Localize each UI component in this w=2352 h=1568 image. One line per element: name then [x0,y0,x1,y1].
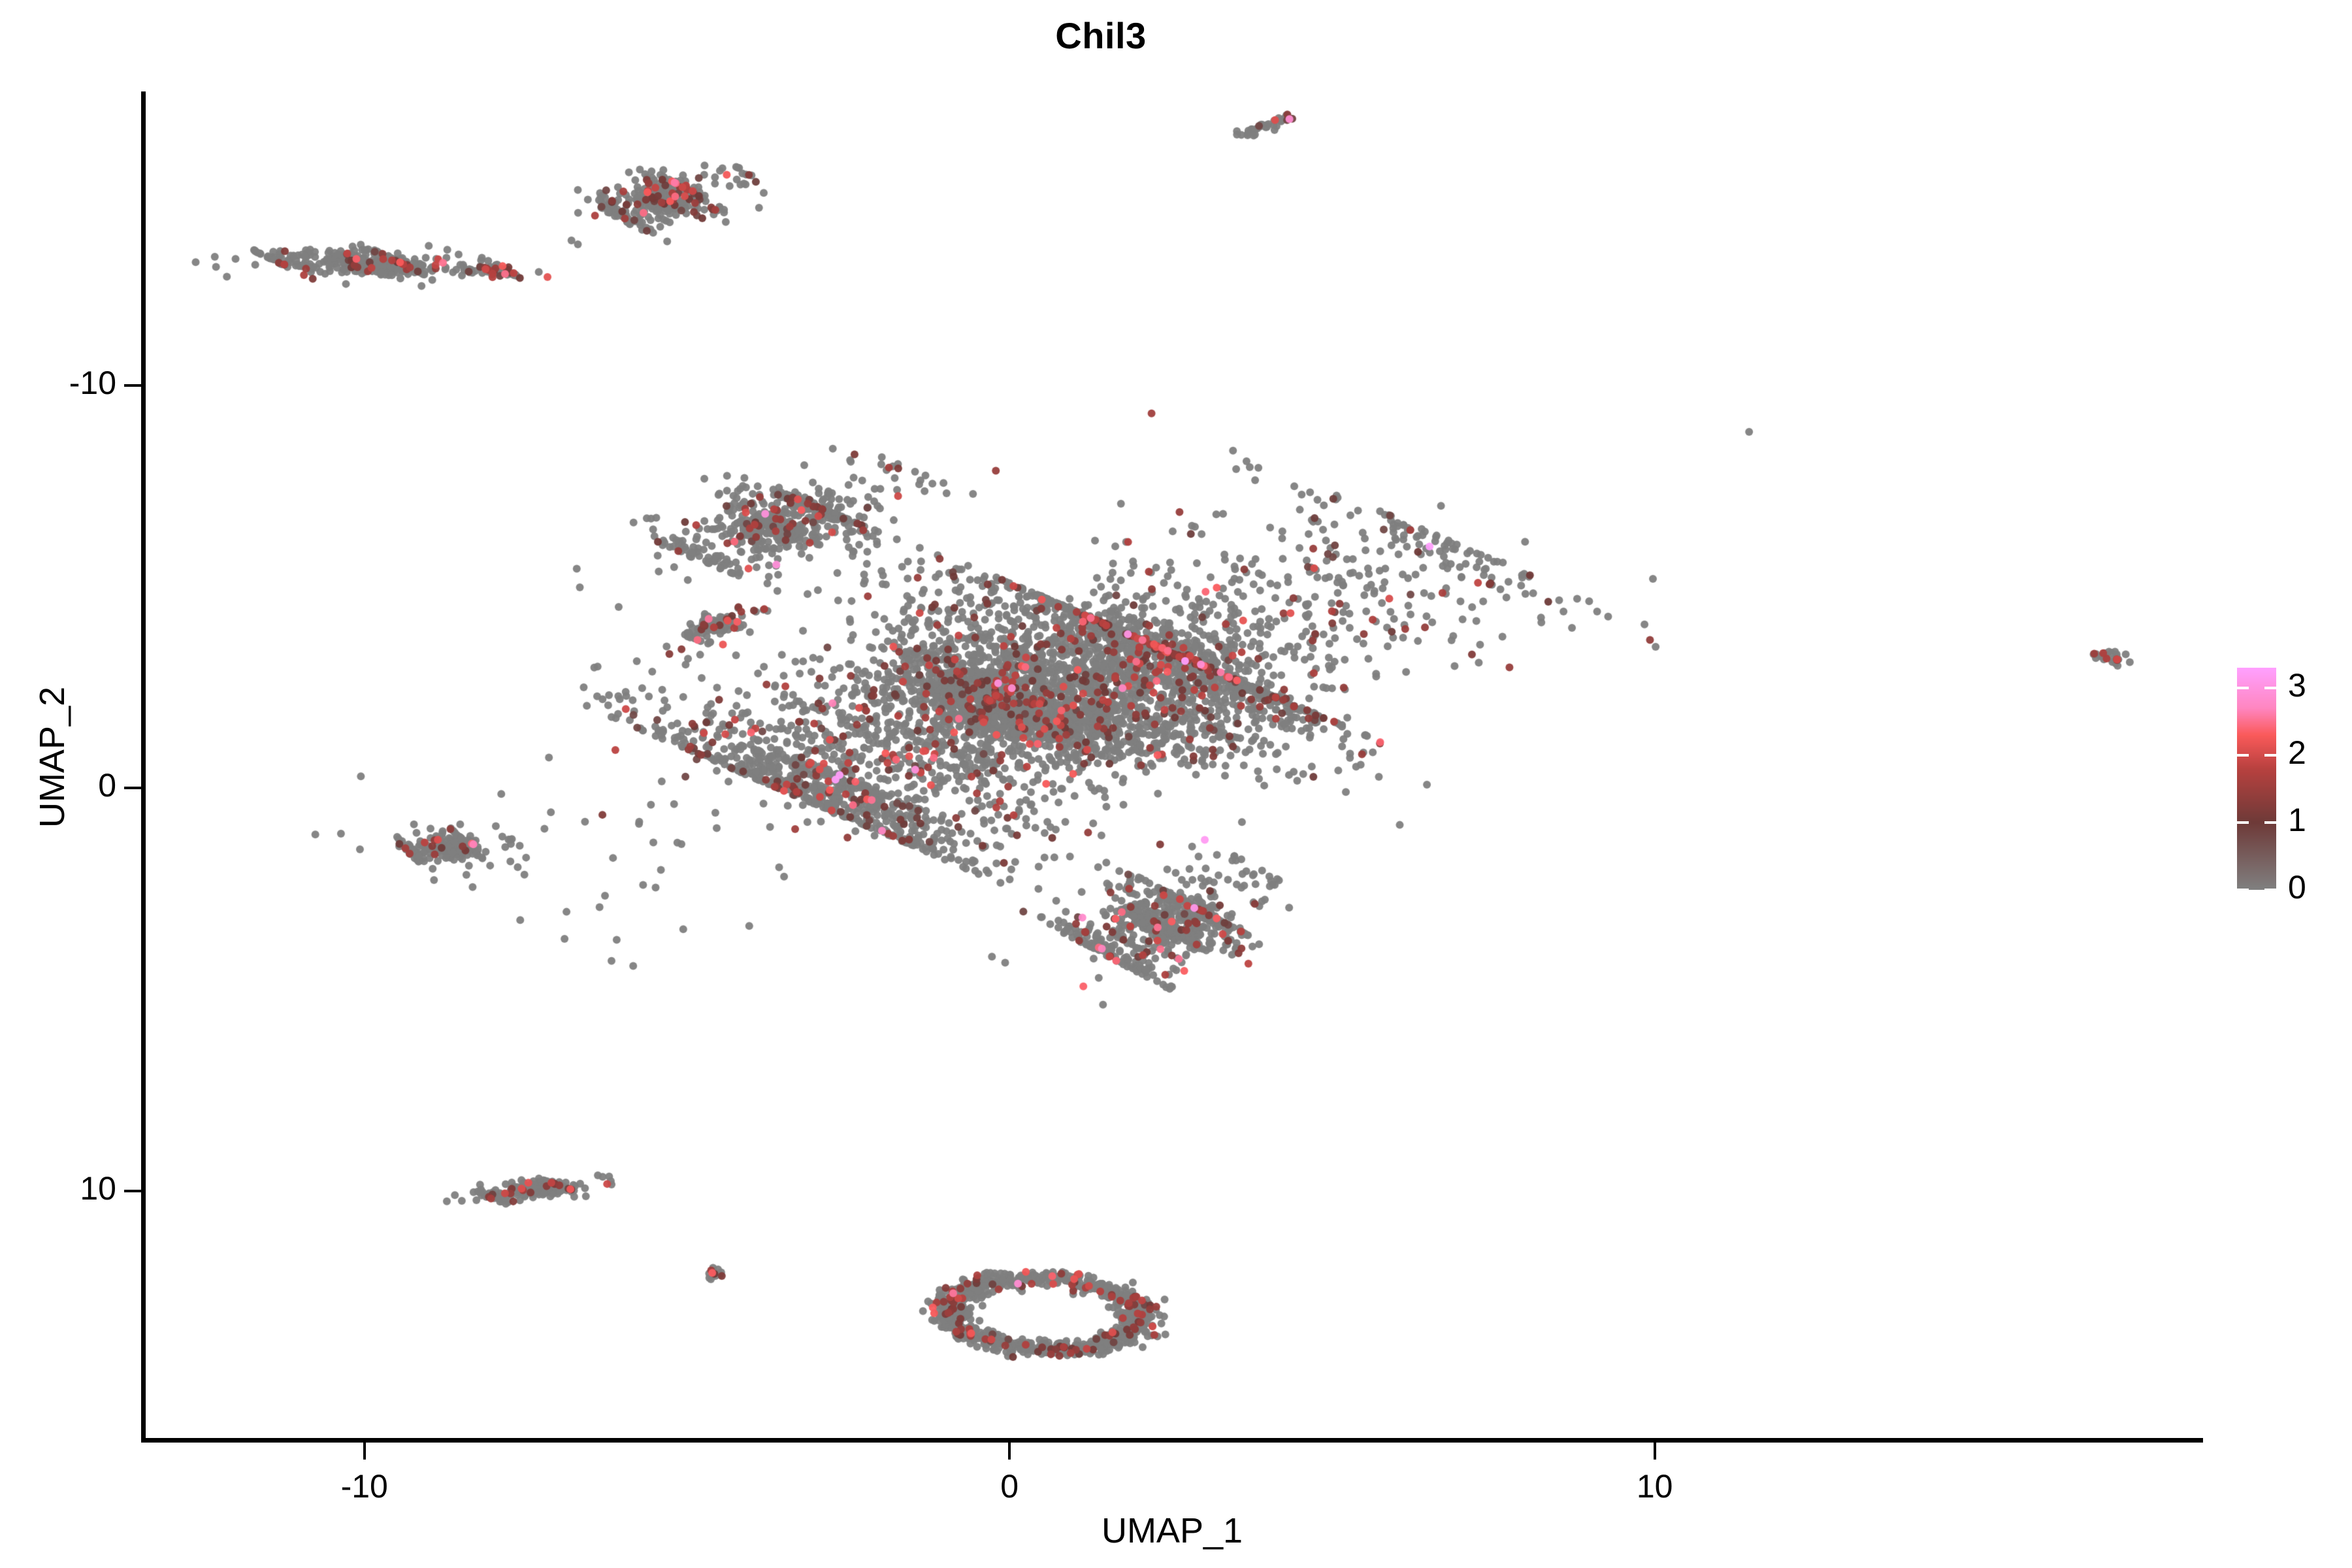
y-tick-mark [124,384,141,387]
umap-feature-plot: Chil3 -10010 100-10 UMAP_1 UMAP_2 3210 [0,0,2352,1568]
plot-panel [145,91,2203,1441]
y-tick-mark [124,787,141,789]
y-axis-line [141,91,146,1443]
colorbar-gradient [2237,668,2276,890]
page-title: Chil3 [0,14,2202,57]
x-tick-mark [1654,1443,1656,1460]
x-tick-mark [363,1443,366,1460]
colorbar-tick-label: 1 [2288,801,2306,839]
colorbar-tick-label: 3 [2288,666,2306,704]
colorbar-tick-mark [2237,687,2276,689]
colorbar-tick-label: 0 [2288,868,2306,906]
colorbar-tick-mark [2237,821,2276,824]
x-tick-mark [1008,1443,1011,1460]
colorbar-legend: 3210 [2237,668,2328,890]
colorbar-tick-label: 2 [2288,734,2306,772]
x-axis-label: UMAP_1 [141,1511,2203,1551]
colorbar-tick-mark [2237,754,2276,757]
x-tick-label: -10 [299,1467,430,1505]
y-axis-label: UMAP_2 [32,39,73,1476]
scatter-point-cloud [145,91,2203,1441]
colorbar-tick-mark [2237,889,2276,891]
x-axis-line [141,1438,2203,1443]
x-tick-label: 0 [944,1467,1075,1505]
x-tick-label: 10 [1590,1467,1720,1505]
y-tick-mark [124,1190,141,1192]
